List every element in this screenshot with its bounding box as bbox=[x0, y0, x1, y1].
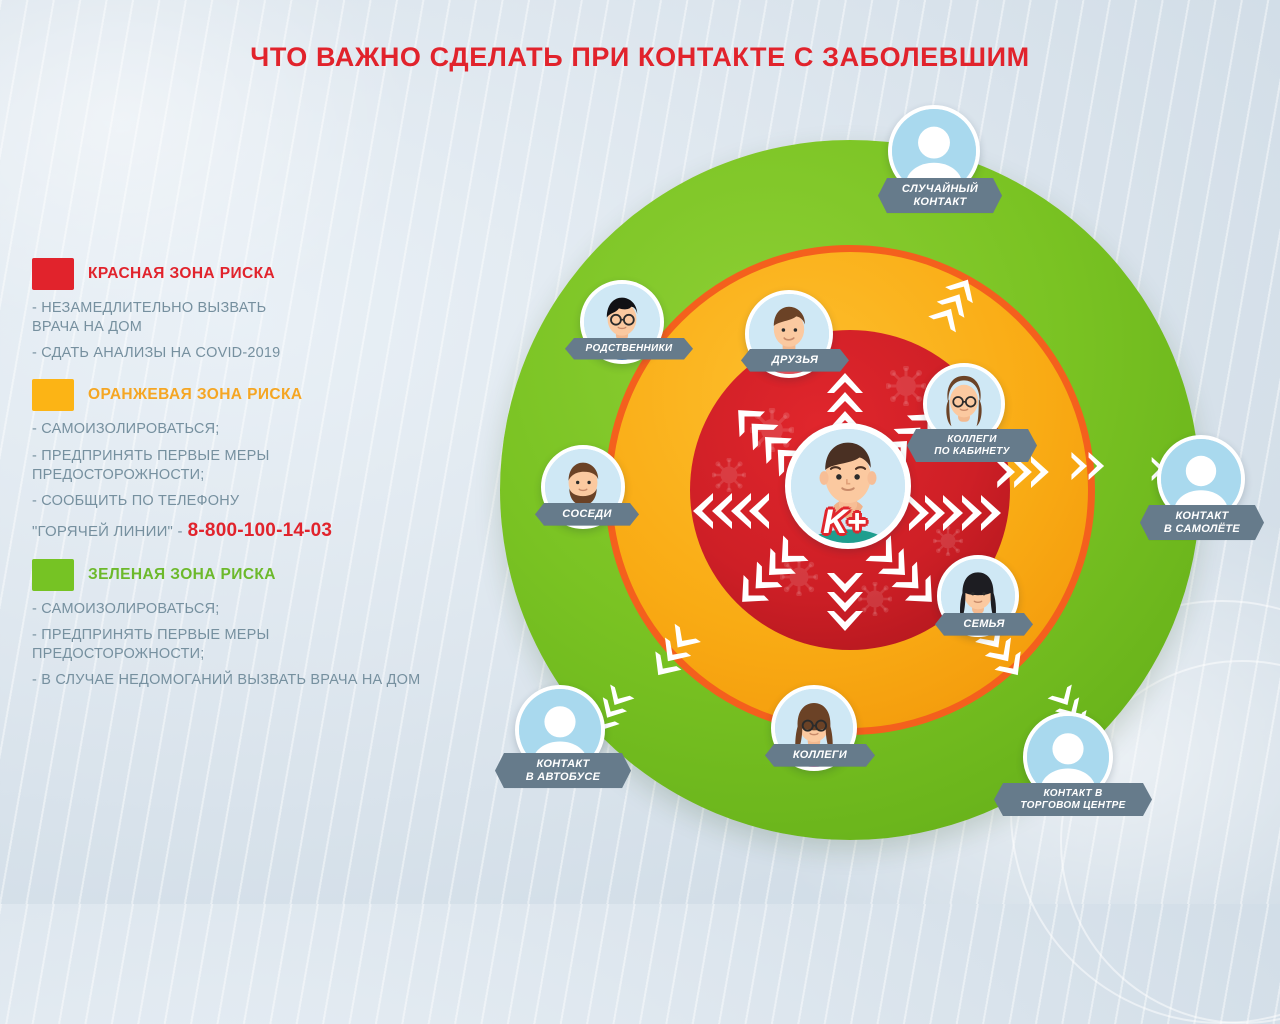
hotline-number[interactable]: 8-800-100-14-03 bbox=[188, 518, 333, 543]
legend-zone-red: КРАСНАЯ ЗОНА РИСКА - НЕЗАМЕДЛИТЕЛЬНО ВЫЗ… bbox=[32, 258, 462, 363]
green-color-swatch bbox=[32, 559, 74, 591]
node-random-contact-label: СЛУЧАЙНЫЙ КОНТАКТ bbox=[878, 178, 1002, 213]
orange-color-swatch bbox=[32, 379, 74, 411]
virus-icon bbox=[712, 458, 746, 492]
virus-icon bbox=[780, 558, 818, 596]
node-relatives-label: РОДСТВЕННИКИ bbox=[565, 338, 693, 360]
virus-icon bbox=[750, 408, 794, 452]
risk-zone-diagram: K+ ДРУЗЬЯ bbox=[445, 85, 1275, 900]
node-colleagues-label: КОЛЛЕГИ bbox=[765, 744, 875, 767]
legend-zone-green-title: ЗЕЛЕНАЯ ЗОНА РИСКА bbox=[88, 566, 276, 584]
legend-zone-green-line-1: - САМОИЗОЛИРОВАТЬСЯ; bbox=[32, 600, 462, 619]
legend-zone-green-line-3: - В СЛУЧАЕ НЕДОМОГАНИЙ ВЫЗВАТЬ ВРАЧА НА … bbox=[32, 671, 462, 690]
legend-zone-orange-line-1: - САМОИЗОЛИРОВАТЬСЯ; bbox=[32, 420, 462, 439]
node-airplane-contact-label: КОНТАКТ В САМОЛЁТЕ bbox=[1140, 505, 1264, 540]
virus-icon bbox=[858, 582, 892, 616]
legend-zone-orange-line-3: - СООБЩИТЬ ПО ТЕЛЕФОНУ bbox=[32, 492, 462, 511]
legend-zone-red-title: КРАСНАЯ ЗОНА РИСКА bbox=[88, 265, 275, 283]
node-family-label: СЕМЬЯ bbox=[935, 613, 1033, 636]
legend-zone-orange-title: ОРАНЖЕВАЯ ЗОНА РИСКА bbox=[88, 386, 302, 404]
legend-zone-orange-line-2: - ПРЕДПРИНЯТЬ ПЕРВЫЕ МЕРЫ ПРЕДОСТОРОЖНОС… bbox=[32, 447, 462, 485]
legend: КРАСНАЯ ЗОНА РИСКА - НЕЗАМЕДЛИТЕЛЬНО ВЫЗ… bbox=[32, 258, 462, 706]
red-color-swatch bbox=[32, 258, 74, 290]
virus-icon bbox=[933, 526, 963, 556]
hotline-prefix: "ГОРЯЧЕЙ ЛИНИИ" - bbox=[32, 522, 183, 542]
node-neighbours-label: СОСЕДИ bbox=[535, 503, 639, 526]
legend-zone-orange-header: ОРАНЖЕВАЯ ЗОНА РИСКА bbox=[32, 379, 462, 411]
legend-hotline: "ГОРЯЧЕЙ ЛИНИИ" - 8-800-100-14-03 bbox=[32, 518, 462, 543]
virus-icon bbox=[886, 366, 926, 406]
legend-zone-red-line-2: - СДАТЬ АНАЛИЗЫ НА COVID-2019 bbox=[32, 344, 462, 363]
page-title: ЧТО ВАЖНО СДЕЛАТЬ ПРИ КОНТАКТЕ С ЗАБОЛЕВ… bbox=[0, 42, 1280, 73]
legend-zone-green: ЗЕЛЕНАЯ ЗОНА РИСКА - САМОИЗОЛИРОВАТЬСЯ; … bbox=[32, 559, 462, 691]
legend-zone-green-header: ЗЕЛЕНАЯ ЗОНА РИСКА bbox=[32, 559, 462, 591]
legend-zone-green-line-2: - ПРЕДПРИНЯТЬ ПЕРВЫЕ МЕРЫ ПРЕДОСТОРОЖНОС… bbox=[32, 626, 462, 664]
legend-zone-red-header: КРАСНАЯ ЗОНА РИСКА bbox=[32, 258, 462, 290]
node-bus-contact-label: КОНТАКТ В АВТОБУСЕ bbox=[495, 753, 631, 788]
node-friends-label: ДРУЗЬЯ bbox=[741, 349, 849, 372]
legend-zone-red-line-1: - НЕЗАМЕДЛИТЕЛЬНО ВЫЗВАТЬ ВРАЧА НА ДОМ bbox=[32, 299, 462, 337]
node-mall-contact-label: КОНТАКТ В ТОРГОВОМ ЦЕНТРЕ bbox=[994, 783, 1152, 816]
center-label: K+ bbox=[823, 503, 865, 542]
legend-zone-orange: ОРАНЖЕВАЯ ЗОНА РИСКА - САМОИЗОЛИРОВАТЬСЯ… bbox=[32, 379, 462, 543]
node-office-colleagues-label: КОЛЛЕГИ ПО КАБИНЕТУ bbox=[907, 429, 1037, 462]
